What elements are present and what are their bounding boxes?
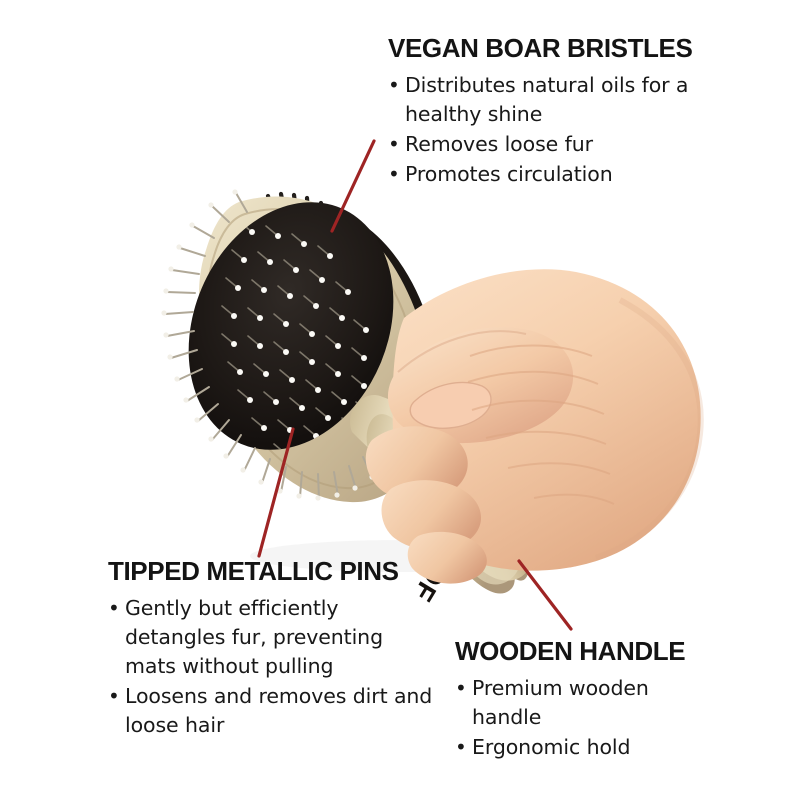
callout-heading-pins: TIPPED METALLIC PINS <box>108 558 438 584</box>
callout-vegan-boar-bristles: VEGAN BOAR BRISTLES Distributes natural … <box>388 35 718 190</box>
infographic-canvas: FLOOF <box>0 0 800 800</box>
bullet-item: Premium wooden handle <box>455 674 705 732</box>
callout-bullets-handle: Premium wooden handle Ergonomic hold <box>455 674 705 762</box>
bullet-item: Distributes natural oils for a healthy s… <box>388 71 718 129</box>
callout-heading-handle: WOODEN HANDLE <box>455 638 705 664</box>
bullet-item: Loosens and removes dirt and loose hair <box>108 682 438 740</box>
callout-wooden-handle: WOODEN HANDLE Premium wooden handle Ergo… <box>455 638 705 763</box>
callout-heading-bristles: VEGAN BOAR BRISTLES <box>388 35 718 61</box>
bullet-item: Ergonomic hold <box>455 733 705 762</box>
callout-bullets-pins: Gently but efficiently detangles fur, pr… <box>108 594 438 740</box>
callout-bullets-bristles: Distributes natural oils for a healthy s… <box>388 71 718 189</box>
callout-tipped-metallic-pins: TIPPED METALLIC PINS Gently but efficien… <box>108 558 438 741</box>
bullet-item: Gently but efficiently detangles fur, pr… <box>108 594 438 681</box>
bullet-item: Promotes circulation <box>388 160 718 189</box>
bullet-item: Removes loose fur <box>388 130 718 159</box>
hand-holding-brush <box>366 269 800 583</box>
